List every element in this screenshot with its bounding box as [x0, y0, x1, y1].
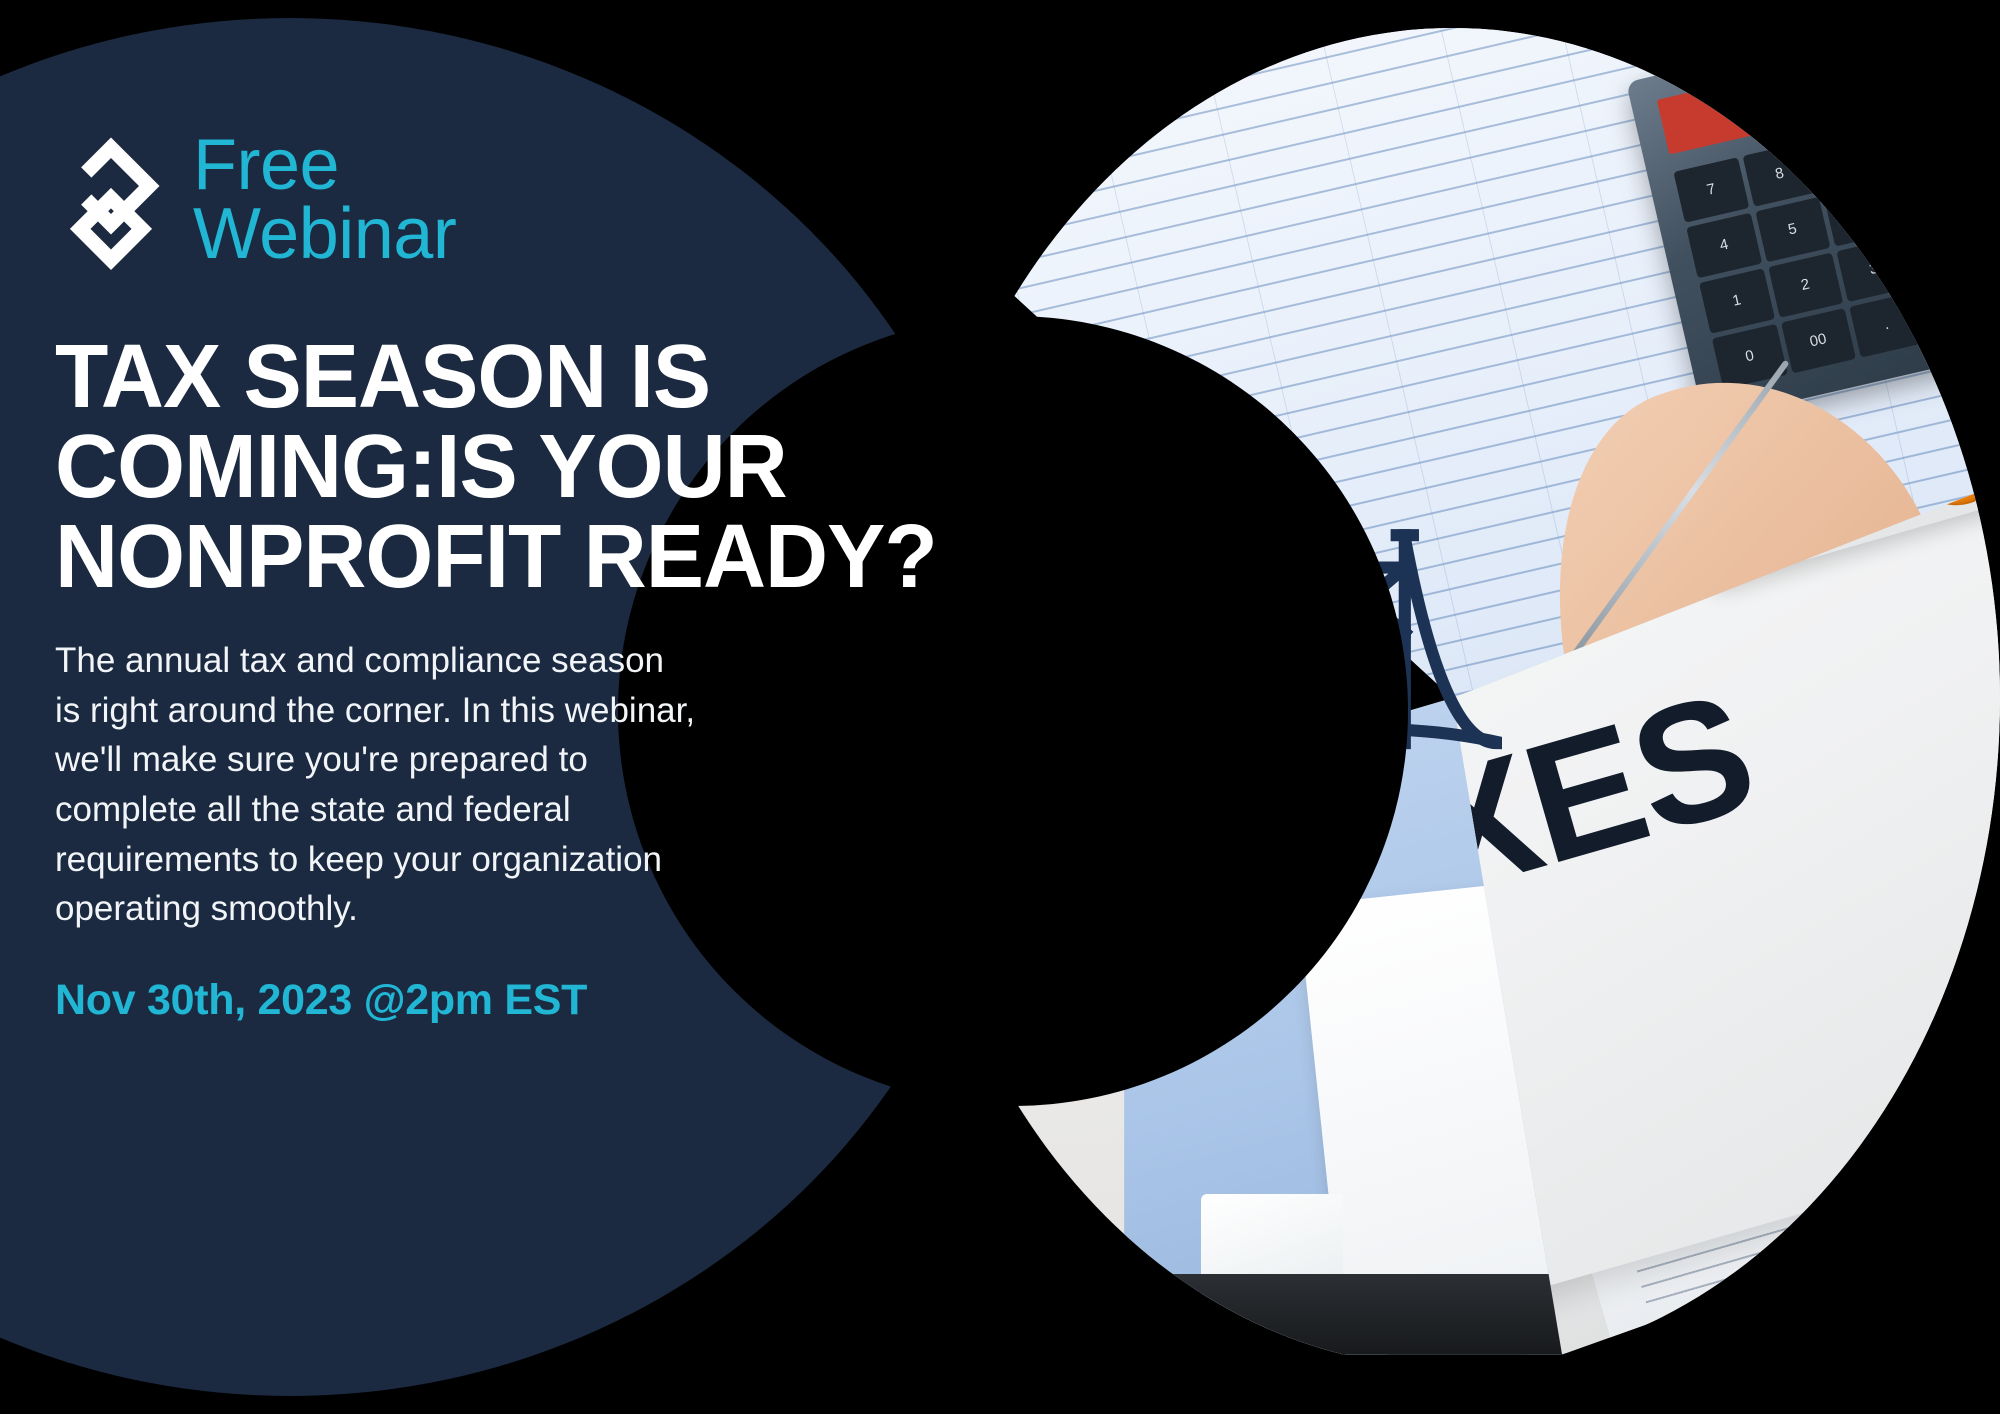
calculator-key: 1 — [1699, 268, 1774, 333]
page-title: TAX SEASON IS COMING:IS YOUR NONPROFIT R… — [55, 332, 928, 602]
calculator-key: 4 — [1686, 213, 1761, 278]
description-text: The annual tax and compliance season is … — [55, 636, 715, 934]
calculator-key: 9 — [1810, 126, 1885, 191]
headline-line-2: COMING:IS YOUR — [55, 422, 928, 512]
calculator-key: 8 — [1742, 141, 1817, 206]
headline-line-1: TAX SEASON IS — [55, 332, 928, 422]
logo-word-webinar: Webinar — [193, 200, 456, 269]
calculator-key: - — [1891, 165, 1966, 230]
calculator-key: 3 — [1836, 237, 1911, 302]
event-date-time: Nov 30th, 2023 @2pm EST — [55, 976, 985, 1025]
calculator-key-orange: × — [1909, 63, 2000, 187]
calculator-key: × — [1904, 221, 1979, 286]
calculator-key: . — [1848, 292, 1923, 357]
calculator-key-orange: - — [1937, 163, 2000, 287]
calculator-key: = — [1917, 276, 1992, 341]
headline-line-3: NONPROFIT READY? — [55, 512, 928, 602]
body-line-1: The annual tax and compliance season — [55, 636, 715, 686]
calculator-key-orange: ÷ — [1880, 28, 2000, 86]
calculator-key: 7 — [1673, 157, 1748, 222]
logo-lockup: Free Webinar — [55, 130, 985, 270]
body-line-6: operating smoothly. — [55, 884, 715, 934]
body-line-5: requirements to keep your organization — [55, 835, 715, 885]
poster-content: Free Webinar TAX SEASON IS COMING:IS YOU… — [55, 130, 985, 1025]
body-line-4: complete all the state and federal — [55, 785, 715, 835]
body-line-2: is right around the corner. In this webi… — [55, 686, 715, 736]
calculator-key: 5 — [1754, 197, 1829, 262]
body-line-3: we'll make sure you're prepared to — [55, 735, 715, 785]
calculator-key-orange: 9 — [1778, 28, 1903, 115]
calculator-key: 00 — [1780, 308, 1855, 373]
calculator-key: + — [1878, 110, 1953, 175]
interlocking-diamonds-logo-icon — [55, 130, 167, 270]
logo-word-free: Free — [193, 131, 456, 200]
webinar-poster: Income Payments, Credits, and Tax Refund… — [0, 0, 2000, 1414]
calculator-key: 2 — [1767, 253, 1842, 318]
logo-wordmark: Free Webinar — [193, 131, 456, 269]
calculator-key: 6 — [1823, 181, 1898, 246]
